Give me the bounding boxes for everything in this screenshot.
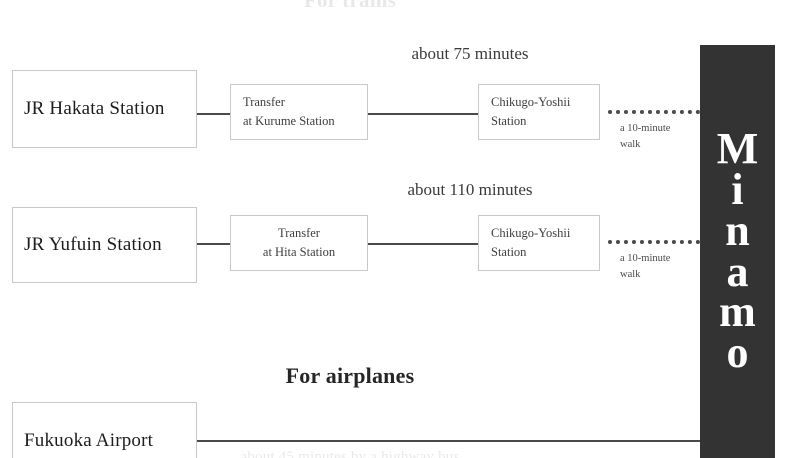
connector-kurume-to-chikugo-yoshii [368,113,478,115]
station-box-chikugo-yoshii-1[interactable]: Chikugo-Yoshii Station [478,84,600,140]
duration-label-yufuin: about 110 minutes [360,180,580,200]
banner-letter-1: i [731,170,743,211]
connector-fukuoka-airport-to-destination [197,440,700,442]
transfer-label-hita: Transfer at Hita Station [231,224,367,263]
banner-letter-2: n [725,211,749,252]
banner-letter-0: M [717,129,759,170]
transfer-label-hita-line1: Transfer [278,226,320,240]
banner-letter-4: m [719,292,756,333]
banner-letter-3: a [727,252,749,293]
station-box-jr-hakata[interactable]: JR Hakata Station [12,70,197,148]
transfer-label-kurume-line2: at Kurume Station [243,114,335,128]
transfer-box-hita[interactable]: Transfer at Hita Station [230,215,368,271]
station-label-chikugo-yoshii-2-line2: Station [491,245,526,259]
transfer-label-hita-line2: at Hita Station [263,245,335,259]
station-label-jr-hakata: JR Hakata Station [13,98,196,120]
walk-note-yufuin: a 10-minute walk [620,251,700,283]
walk-connector-route-hakata [608,110,700,114]
station-box-chikugo-yoshii-2[interactable]: Chikugo-Yoshii Station [478,215,600,271]
banner-letter-5: o [727,333,749,374]
station-label-chikugo-yoshii-2: Chikugo-Yoshii Station [479,224,599,263]
duration-label-hakata: about 75 minutes [360,44,580,64]
station-label-chikugo-yoshii-2-line1: Chikugo-Yoshii [491,226,570,240]
connector-yufuin-to-hita [197,243,230,245]
walk-connector-route-yufuin [608,240,700,244]
destination-banner-minamo: M i n a m o [700,45,775,458]
station-box-jr-yufuin[interactable]: JR Yufuin Station [12,207,197,283]
walk-note-hakata: a 10-minute walk [620,121,700,153]
transfer-box-kurume[interactable]: Transfer at Kurume Station [230,84,368,140]
section-heading-trains: For trains [0,0,700,13]
station-label-chikugo-yoshii-1-line1: Chikugo-Yoshii [491,95,570,109]
access-diagram: For trains about 75 minutes JR Hakata St… [0,0,800,458]
station-label-jr-yufuin: JR Yufuin Station [13,234,196,256]
connector-hakata-to-kurume [197,113,230,115]
transfer-label-kurume: Transfer at Kurume Station [231,93,367,132]
station-label-chikugo-yoshii-1-line2: Station [491,114,526,128]
connector-hita-to-chikugo-yoshii [368,243,478,245]
section-heading-bottom-cut: about 45 minutes by a highway bus [0,449,700,458]
section-heading-airplanes: For airplanes [0,363,700,389]
transfer-label-kurume-line1: Transfer [243,95,285,109]
station-label-chikugo-yoshii-1: Chikugo-Yoshii Station [479,93,599,132]
